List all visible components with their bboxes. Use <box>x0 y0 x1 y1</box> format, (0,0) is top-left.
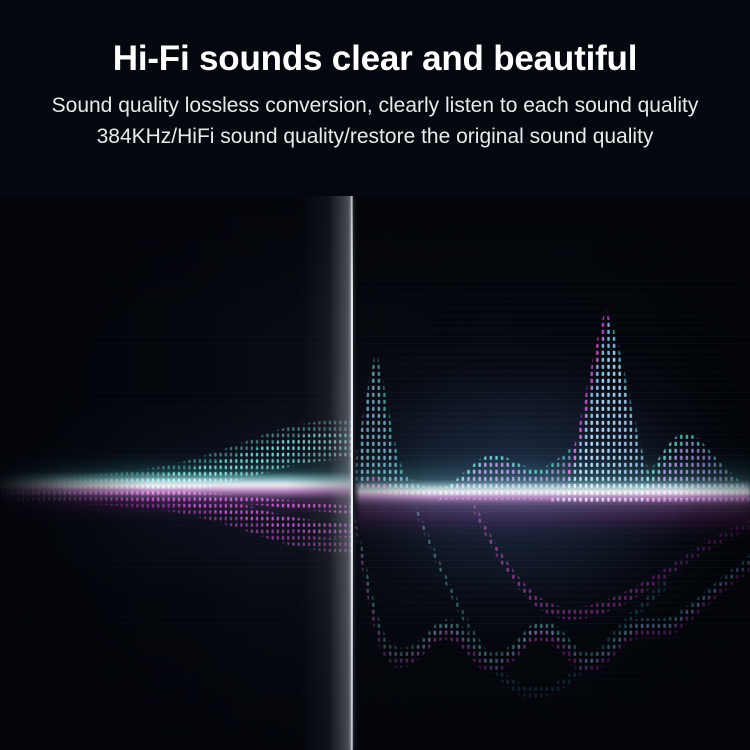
left-edge-fade <box>0 196 150 750</box>
header: Hi-Fi sounds clear and beautiful Sound q… <box>0 0 750 196</box>
divider-shadow <box>353 196 360 750</box>
waveform-left-half <box>0 196 352 750</box>
right-waveform-graphic <box>354 196 750 750</box>
page-title: Hi-Fi sounds clear and beautiful <box>0 38 750 80</box>
waveform-comparison-panel <box>0 196 750 750</box>
waveform-right-half <box>354 196 750 750</box>
comparison-divider <box>351 196 353 750</box>
product-feature-banner: Hi-Fi sounds clear and beautiful Sound q… <box>0 0 750 750</box>
page-subtitle: Sound quality lossless conversion, clear… <box>0 91 750 152</box>
